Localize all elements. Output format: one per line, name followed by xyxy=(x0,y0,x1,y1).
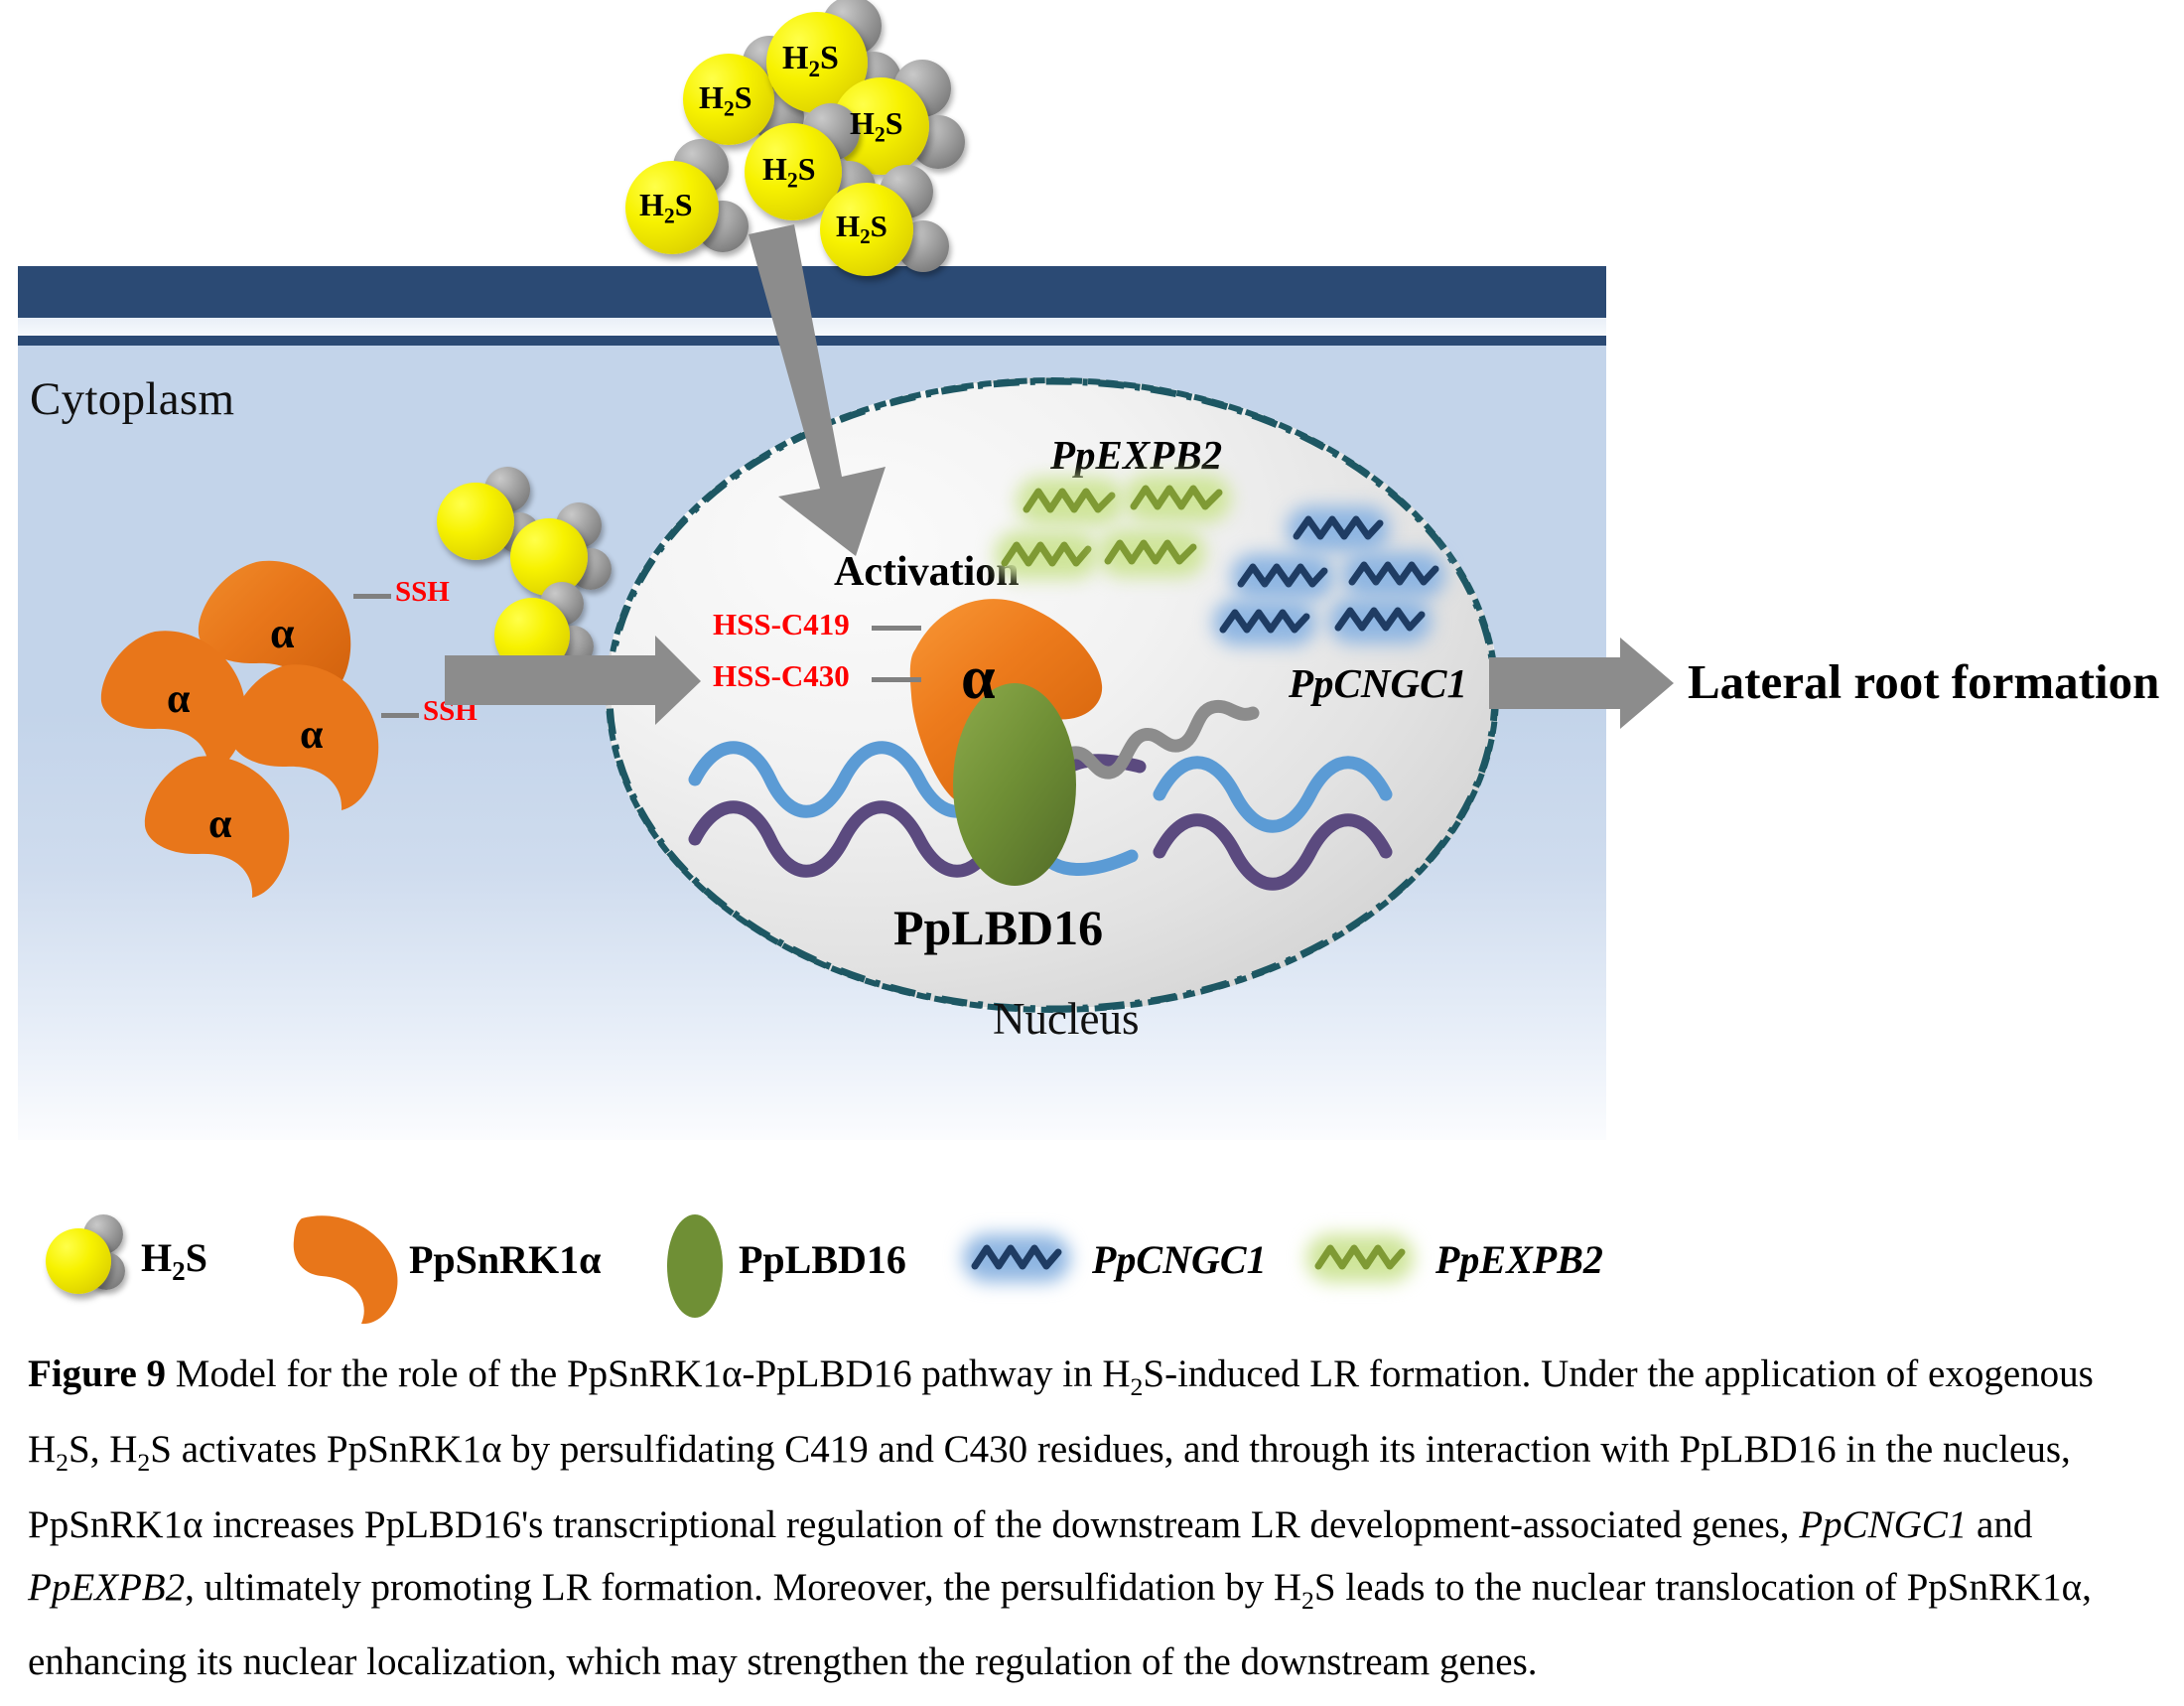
h2s-2: 2 xyxy=(808,57,820,82)
legend-h2s-2: 2 xyxy=(172,1256,186,1286)
caption-sub-4: 2 xyxy=(1301,1585,1314,1614)
h2s-formula-label: H2S xyxy=(639,187,693,228)
h2s-s: S xyxy=(871,209,887,243)
h2s-2: 2 xyxy=(664,204,675,227)
caption-sub-2: 2 xyxy=(56,1448,68,1477)
h2s-2: 2 xyxy=(875,122,886,146)
h2s-s: S xyxy=(820,40,839,76)
alpha-label: α xyxy=(270,608,295,658)
caption-gene-ppexpb2: PpEXPB2 xyxy=(28,1566,185,1609)
caption-sub-3: 2 xyxy=(137,1448,150,1477)
h2s-formula-label: H2S xyxy=(850,105,903,147)
legend-label-h2s: H2S xyxy=(141,1234,207,1287)
h2s-2: 2 xyxy=(724,96,735,120)
legend-label-ppcngc1: PpCNGC1 xyxy=(1092,1236,1267,1283)
outcome-label: Lateral root formation xyxy=(1688,653,2159,710)
h2s-h: H xyxy=(836,209,860,243)
h2s-h: H xyxy=(639,187,664,222)
h2s-molecule-icon xyxy=(46,1214,141,1310)
green-zigzag-wave xyxy=(1306,1234,1414,1282)
alpha-label: α xyxy=(300,711,323,759)
h2s-formula-label: H2S xyxy=(762,151,816,193)
outcome-arrow xyxy=(0,0,2184,1192)
h2s-sulfur-sphere xyxy=(46,1228,111,1294)
h2s-h: H xyxy=(850,105,875,141)
pathway-diagram: Cytoplasm Nucleus H2S H2S H2S H2S H2S xyxy=(0,0,2184,1192)
legend-h2s-s: S xyxy=(186,1235,207,1280)
caption-text-6: , ultimately promoting LR formation. Mor… xyxy=(185,1566,1301,1609)
h2s-formula-label: H2S xyxy=(782,40,839,83)
caption-text-1: Model for the role of the PpSnRK1α-PpLBD… xyxy=(166,1352,1131,1395)
legend-label-pplbd16: PpLBD16 xyxy=(739,1236,906,1283)
legend: H2S PpSnRK1α PpLBD16 PpCNGC1 xyxy=(0,1197,2184,1326)
green-oval-icon xyxy=(655,1207,735,1326)
h2s-h: H xyxy=(762,151,787,187)
legend-item-h2s: H2S xyxy=(46,1197,264,1326)
caption-gene-ppcngc1: PpCNGC1 xyxy=(1799,1503,1967,1546)
legend-label-ppexpb2: PpEXPB2 xyxy=(1435,1236,1603,1283)
h2s-s: S xyxy=(735,79,752,115)
legend-label-ppsnrk1a: PpSnRK1α xyxy=(409,1236,602,1283)
caption-text-3: S, H xyxy=(68,1428,137,1471)
h2s-s: S xyxy=(675,187,693,222)
h2s-formula-label: H2S xyxy=(699,79,752,121)
legend-h2s-h: H xyxy=(141,1235,172,1280)
legend-item-ppexpb2: PpEXPB2 xyxy=(1306,1197,1743,1326)
caption-figure-number: Figure 9 xyxy=(28,1352,166,1395)
h2s-h: H xyxy=(782,40,808,76)
h2s-2: 2 xyxy=(860,224,871,248)
legend-item-ppsnrk1a: PpSnRK1α xyxy=(288,1197,685,1326)
blue-zigzag-wave xyxy=(963,1234,1070,1282)
figure-caption: Figure 9 Model for the role of the PpSnR… xyxy=(28,1343,2162,1693)
orange-crescent-icon xyxy=(288,1201,407,1330)
caption-text-4: S activates PpSnRK1α by persulfidating C… xyxy=(28,1428,2071,1546)
alpha-label: α xyxy=(208,800,231,848)
h2s-h: H xyxy=(699,79,724,115)
h2s-formula-label: H2S xyxy=(836,209,887,249)
h2s-s: S xyxy=(886,105,903,141)
caption-sub-1: 2 xyxy=(1131,1372,1144,1401)
legend-item-pplbd16: PpLBD16 xyxy=(655,1197,1013,1326)
caption-text-5: and xyxy=(1967,1503,2032,1546)
h2s-s: S xyxy=(798,151,816,187)
alpha-label: α xyxy=(167,675,190,723)
h2s-2: 2 xyxy=(787,168,798,192)
blue-transcript-icon xyxy=(963,1234,1070,1282)
green-transcript-icon xyxy=(1306,1234,1414,1282)
alpha-label: α xyxy=(961,643,996,714)
